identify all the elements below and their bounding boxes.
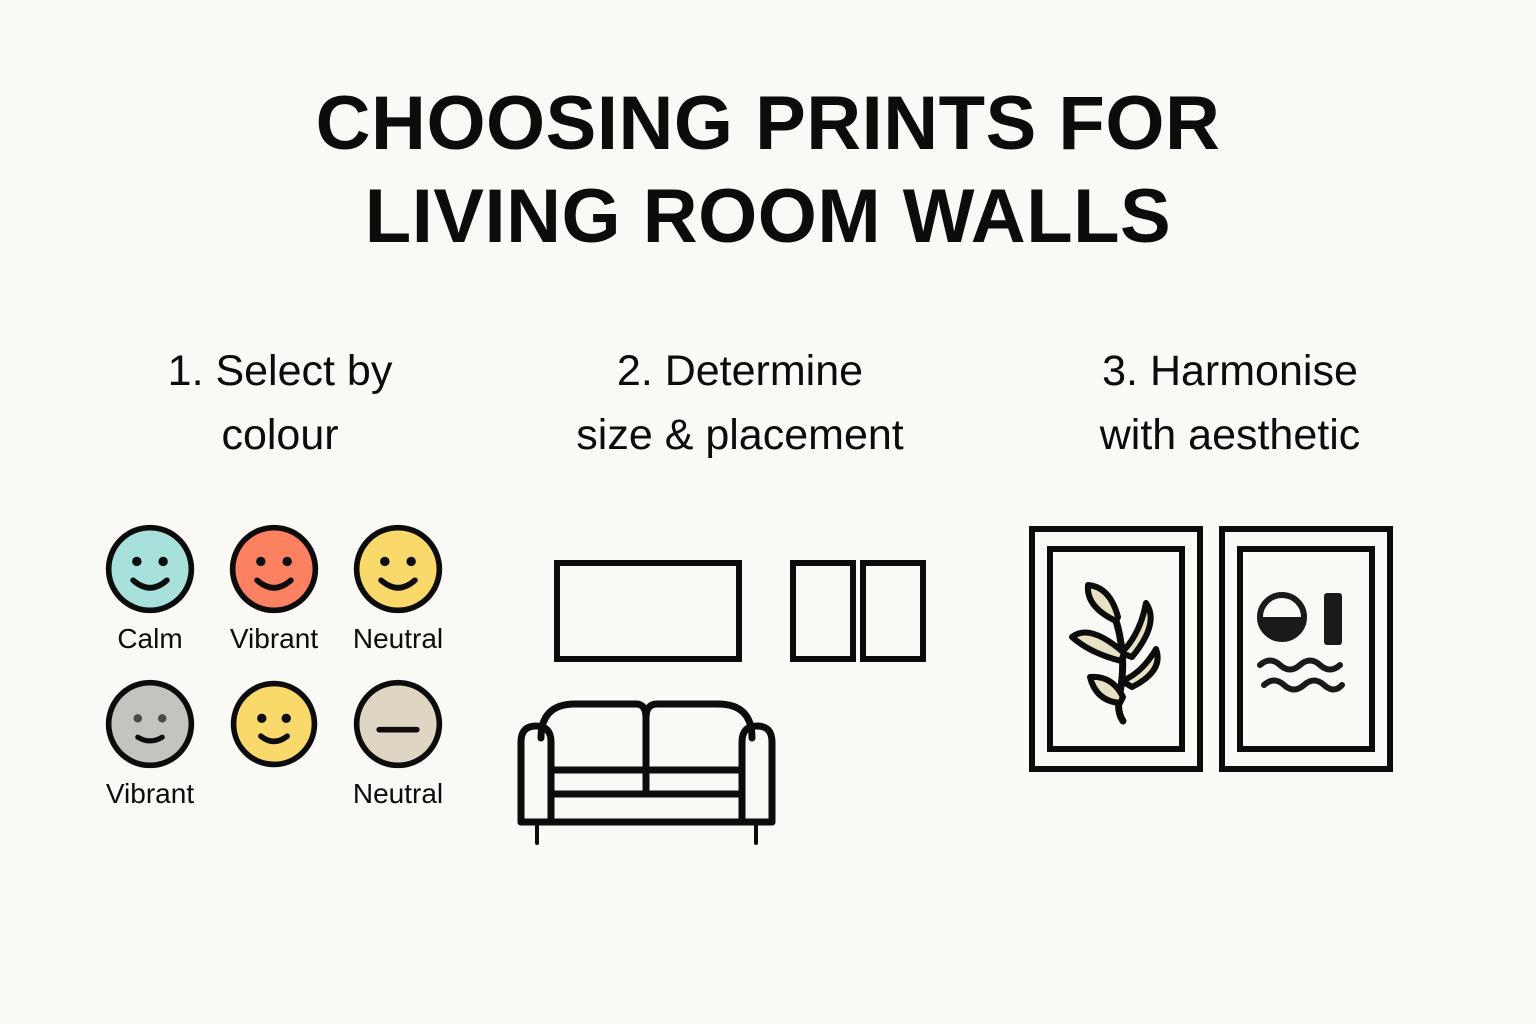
swatch-label: Calm — [117, 625, 182, 655]
framed-artwork-pair — [1010, 525, 1468, 773]
swatch-vibrant[interactable]: Vibrant — [226, 522, 322, 655]
wave-line-shape — [1260, 661, 1340, 670]
smiley-face-icon — [227, 677, 321, 771]
frames-group — [505, 545, 945, 665]
swatch-neutral-beige[interactable]: Neutral — [350, 677, 446, 810]
step-3-heading-line-2: with aesthetic — [1010, 404, 1450, 468]
step-2-heading: 2. Determine size & placement — [505, 340, 975, 467]
frame-outer-border — [1222, 529, 1390, 769]
smiley-face-icon — [227, 522, 321, 616]
botanical-leaf-print[interactable] — [1028, 525, 1204, 773]
step-3-heading-line-1: 3. Harmonise — [1010, 340, 1450, 404]
sofa-illustration — [511, 690, 981, 850]
swatch-label: Neutral — [353, 780, 443, 810]
smiley-face-icon — [103, 522, 197, 616]
smiley-face-icon — [103, 677, 197, 771]
page-title: CHOOSING PRINTS FOR LIVING ROOM WALLS — [0, 78, 1536, 263]
neutral-face-icon — [351, 677, 445, 771]
step-3-heading: 3. Harmonise with aesthetic — [1010, 340, 1450, 467]
abstract-shapes-print[interactable] — [1218, 525, 1394, 773]
small-portrait-frame-left[interactable] — [793, 563, 853, 659]
step-1-heading-line-1: 1. Select by — [60, 340, 500, 404]
page-title-line-2: LIVING ROOM WALLS — [0, 171, 1536, 264]
step-1-heading: 1. Select by colour — [60, 340, 500, 467]
step-1-heading-line-2: colour — [60, 404, 500, 468]
colour-swatch-row: Vibrant Neutral — [60, 677, 500, 810]
step-2-heading-line-2: size & placement — [505, 404, 975, 468]
step-2-column: 2. Determine size & placement — [505, 340, 975, 467]
wave-line-shape — [1264, 681, 1342, 690]
abstract-illustration — [1260, 593, 1342, 690]
frame-inner-mat — [1240, 549, 1372, 749]
smiley-face-icon — [351, 522, 445, 616]
leaf-branch-illustration — [1072, 585, 1158, 721]
large-landscape-frame[interactable] — [557, 563, 739, 659]
wall-frames-diagram — [505, 545, 975, 665]
swatch-yellow-unlabelled[interactable] — [226, 677, 322, 810]
swatch-neutral[interactable]: Neutral — [350, 522, 446, 655]
swatch-calm[interactable]: Calm — [102, 522, 198, 655]
page-title-line-1: CHOOSING PRINTS FOR — [0, 78, 1536, 171]
colour-swatch-grid: Calm Vibrant Neutral — [60, 522, 500, 832]
swatch-label: Neutral — [353, 625, 443, 655]
swatch-label: Vibrant — [106, 780, 194, 810]
step-1-column: 1. Select by colour Calm — [60, 340, 500, 467]
two-seat-sofa-icon[interactable] — [511, 690, 781, 850]
vertical-bar-shape — [1324, 593, 1342, 645]
step-2-heading-line-1: 2. Determine — [505, 340, 975, 404]
colour-swatch-row: Calm Vibrant Neutral — [60, 522, 500, 655]
swatch-vibrant-grey[interactable]: Vibrant — [102, 677, 198, 810]
small-portrait-frame-right[interactable] — [863, 563, 923, 659]
step-3-column: 3. Harmonise with aesthetic — [1010, 340, 1450, 467]
swatch-label: Vibrant — [230, 625, 318, 655]
